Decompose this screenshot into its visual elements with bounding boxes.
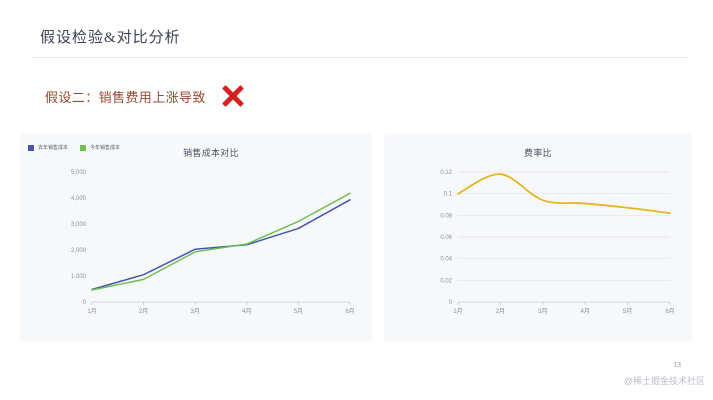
chart-card-expense-rate: 费率比 00.020.040.060.080.10.121月2月3月4月5月6月 — [384, 134, 692, 342]
hypothesis-label: 假设二：销售费用上涨导致 — [45, 87, 206, 106]
svg-text:6月: 6月 — [665, 308, 674, 315]
svg-text:3月: 3月 — [191, 308, 200, 315]
title-divider — [33, 57, 688, 58]
svg-text:0: 0 — [449, 300, 453, 306]
svg-text:4月: 4月 — [242, 308, 251, 315]
red-cross-icon — [220, 83, 246, 109]
hypothesis-statement: 假设二：销售费用上涨导致 — [45, 82, 246, 110]
svg-text:4,000: 4,000 — [71, 196, 87, 202]
svg-text:2,000: 2,000 — [71, 248, 87, 254]
page-number: 13 — [673, 362, 681, 369]
svg-text:2月: 2月 — [139, 308, 148, 315]
svg-text:0.02: 0.02 — [440, 278, 452, 284]
svg-text:2月: 2月 — [496, 308, 505, 315]
watermark: @稀土掘金技术社区 — [624, 374, 705, 387]
svg-text:3月: 3月 — [538, 308, 547, 315]
svg-text:0.1: 0.1 — [444, 192, 453, 198]
chart-title-expense-rate: 费率比 — [384, 146, 692, 159]
plot-area-sales-cost: 01,0002,0003,0004,0005,0001月2月3月4月5月6月 — [58, 166, 354, 324]
svg-text:0.12: 0.12 — [440, 170, 452, 176]
line-chart-sales-cost: 01,0002,0003,0004,0005,0001月2月3月4月5月6月 — [58, 166, 354, 324]
svg-text:0: 0 — [83, 300, 87, 306]
chart-title-sales-cost: 销售成本对比 — [20, 146, 372, 159]
plot-area-expense-rate: 00.020.040.060.080.10.121月2月3月4月5月6月 — [430, 166, 674, 324]
svg-text:5月: 5月 — [294, 308, 303, 315]
svg-text:3,000: 3,000 — [71, 222, 87, 228]
svg-text:1月: 1月 — [453, 308, 462, 315]
svg-text:1,000: 1,000 — [71, 274, 87, 280]
svg-text:0.08: 0.08 — [440, 213, 452, 219]
page-title: 假设检验&对比分析 — [40, 26, 181, 47]
svg-text:4月: 4月 — [581, 308, 590, 315]
svg-text:5月: 5月 — [623, 308, 632, 315]
svg-text:0.06: 0.06 — [440, 235, 452, 241]
svg-text:6月: 6月 — [345, 308, 354, 315]
svg-text:1月: 1月 — [87, 308, 96, 315]
svg-text:5,000: 5,000 — [71, 170, 87, 176]
chart-card-sales-cost: 去年销售成本 今年销售成本 销售成本对比 01,0002,0003,0004,0… — [20, 134, 372, 342]
slide-canvas: 假设检验&对比分析 假设二：销售费用上涨导致 去年销售成本 今年销售成本 销售成… — [0, 0, 713, 400]
line-chart-expense-rate: 00.020.040.060.080.10.121月2月3月4月5月6月 — [430, 166, 674, 324]
svg-text:0.04: 0.04 — [440, 257, 452, 263]
